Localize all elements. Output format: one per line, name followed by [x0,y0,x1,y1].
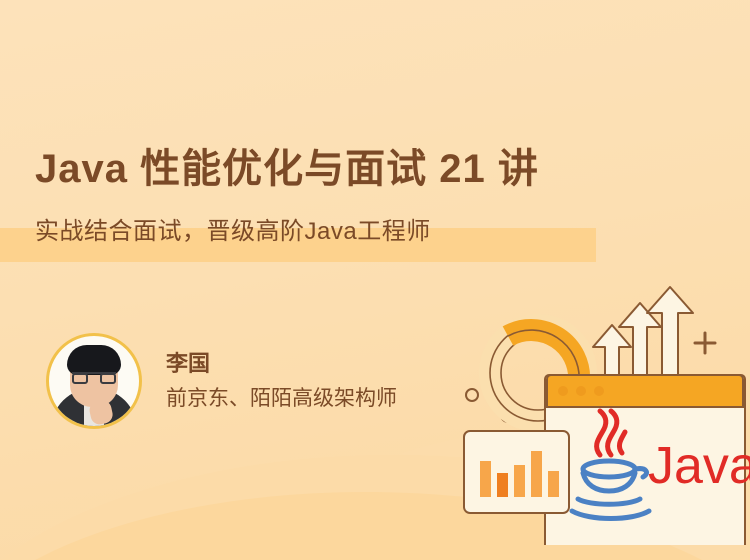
author-block: 李国 前京东、陌陌高级架构师 [46,333,397,429]
course-title: Java 性能优化与面试 21 讲 [35,146,675,192]
avatar-glasses [72,372,116,385]
course-subtitle: 实战结合面试，晋级高阶Java工程师 [35,220,431,244]
plus-symbol [695,333,715,353]
illustration: Java [450,285,750,545]
decorative-circle-left [466,389,478,401]
bar-chart-card [464,431,569,513]
java-logo-wordmark: Java [648,437,750,495]
avatar-hair [67,345,121,375]
title-block: Java 性能优化与面试 21 讲 [35,146,675,192]
course-cover-image: Java 性能优化与面试 21 讲 实战结合面试，晋级高阶Java工程师 李国 … [0,0,750,560]
author-name: 李国 [166,351,397,377]
browser-window-dots [558,386,604,396]
author-text: 李国 前京东、陌陌高级架构师 [166,351,397,412]
author-avatar [46,333,142,429]
browser-window: Java [545,375,750,545]
author-role: 前京东、陌陌高级架构师 [166,386,397,411]
